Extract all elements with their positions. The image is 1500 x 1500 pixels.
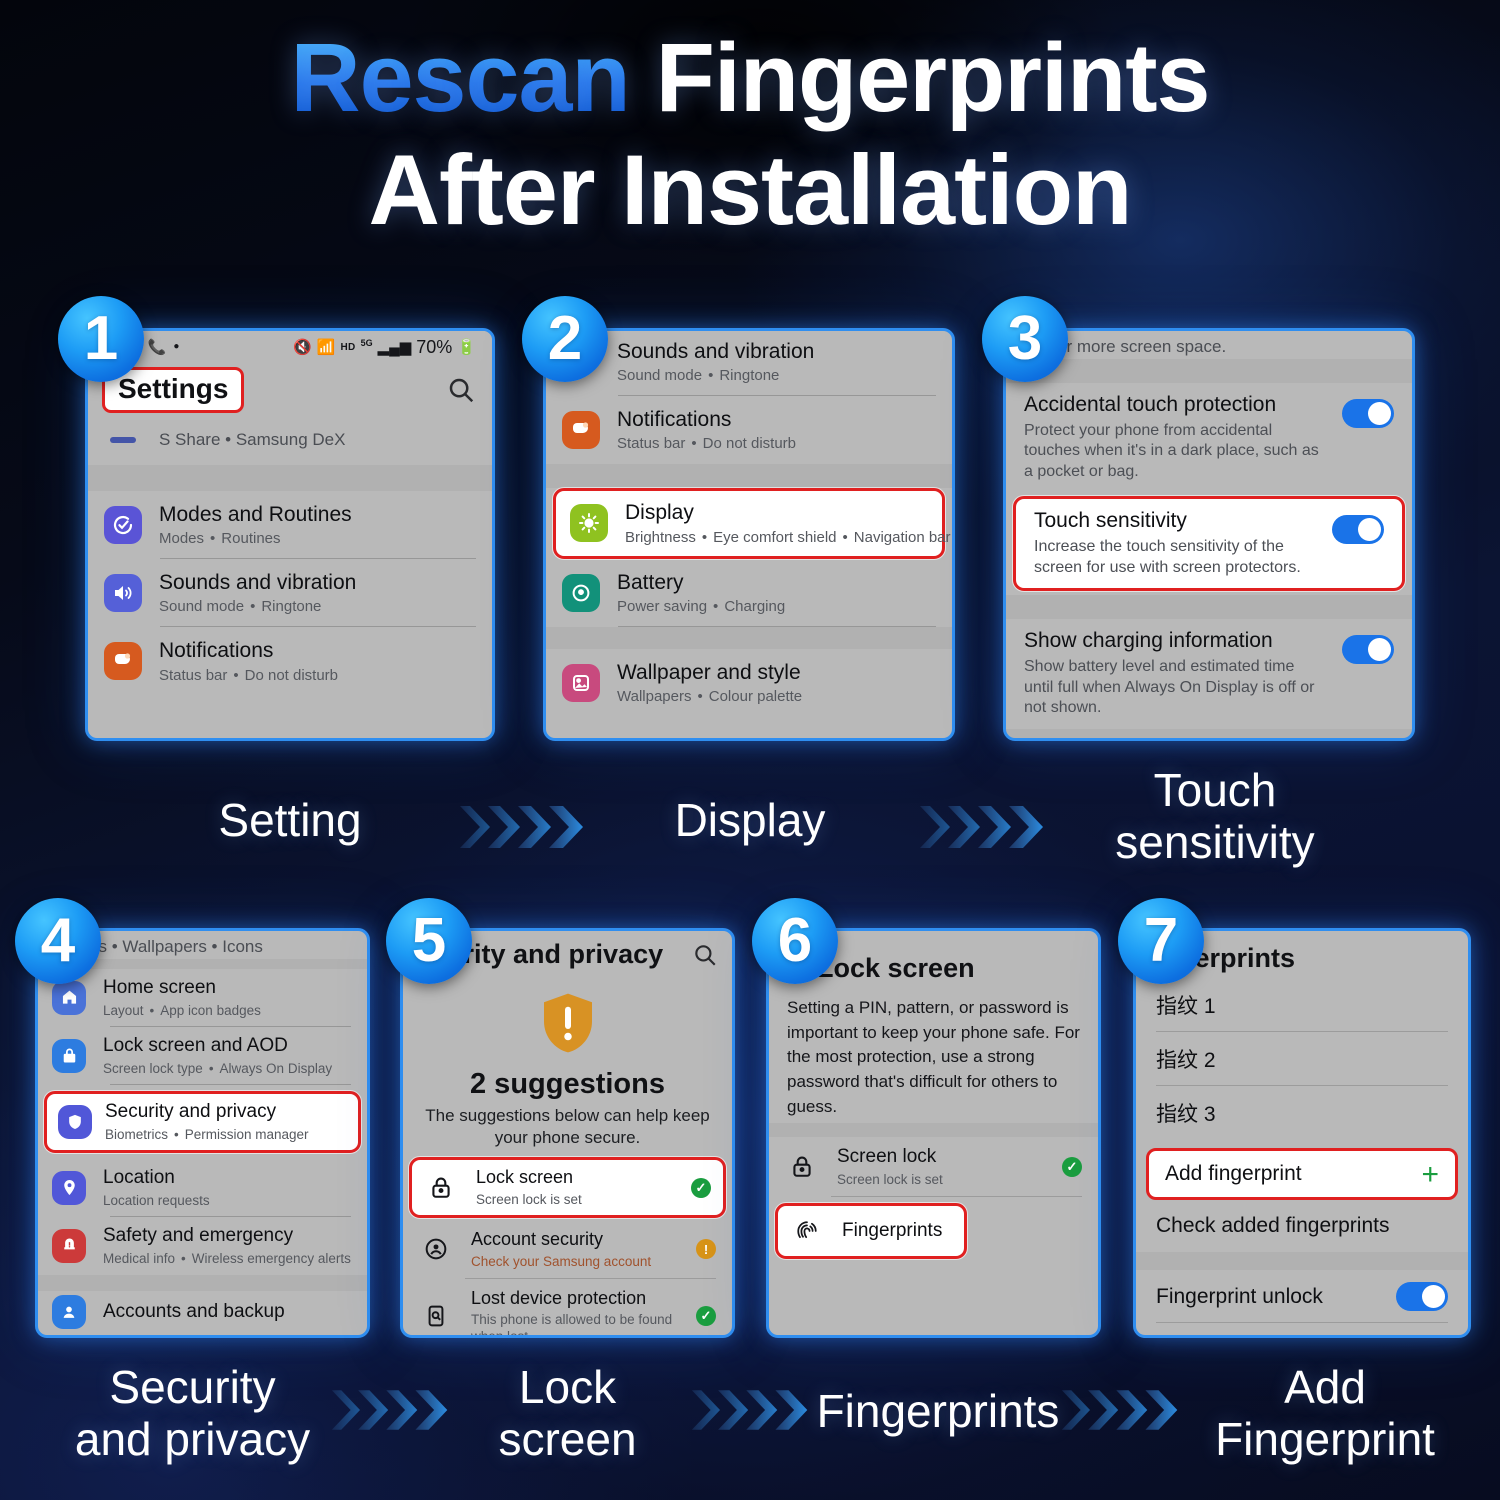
safety-icon <box>52 1229 86 1263</box>
flow-chevrons <box>330 1382 452 1438</box>
suggestion-account-security[interactable]: Account security Check your Samsung acco… <box>403 1220 732 1279</box>
row-title: Lost device protection <box>471 1288 678 1310</box>
row-subtitle: Wallpapers•Colour palette <box>617 688 802 706</box>
display-icon <box>570 504 608 542</box>
settings-row-home-screen[interactable]: Home screen Layout•App icon badges <box>38 969 367 1027</box>
flow-chevrons <box>458 798 588 856</box>
flow-label-setting: Setting <box>160 795 420 847</box>
lock-screen-description: Setting a PIN, pattern, or password is i… <box>769 988 1098 1123</box>
account-icon <box>419 1232 453 1266</box>
clipped-row: S Share • Samsung DeX <box>88 419 492 465</box>
wallpaper-icon <box>562 664 600 702</box>
row-subtitle: Medical info•Wireless emergency alerts <box>103 1251 351 1267</box>
hd-label: HD <box>341 342 356 353</box>
row-subtitle: Screen lock is set <box>476 1192 582 1208</box>
sound-icon <box>104 574 142 612</box>
row-subtitle: Modes•Routines <box>159 530 352 548</box>
modes-routines-icon <box>104 506 142 544</box>
mute-icon: 🔇 <box>293 340 312 355</box>
fingerprint-item[interactable]: 指纹 1 <box>1136 978 1468 1032</box>
add-fingerprint-label: Add fingerprint <box>1165 1162 1302 1186</box>
step-badge-7: 7 <box>1118 898 1204 984</box>
settings-row-lock-screen-aod[interactable]: Lock screen and AOD Screen lock type•Alw… <box>38 1027 367 1085</box>
battery-percent: 70% <box>416 337 452 358</box>
title-accent: Rescan <box>291 23 630 132</box>
settings-row-location[interactable]: Location Location requests <box>38 1159 367 1217</box>
lock-icon <box>52 1039 86 1073</box>
row-subtitle: Status bar•Do not disturb <box>159 667 338 685</box>
step-badge-4: 4 <box>15 898 101 984</box>
row-title: Account security <box>471 1229 651 1251</box>
step-badge-3: 3 <box>982 296 1068 382</box>
plus-icon: + <box>1421 1164 1439 1185</box>
toggle-label: Fingerprint unlock <box>1156 1285 1323 1309</box>
row-title: Location <box>103 1167 210 1190</box>
toggle-switch[interactable] <box>1332 515 1384 544</box>
notifications-icon <box>104 642 142 680</box>
flow-chevrons <box>690 1382 812 1438</box>
row-title: Modes and Routines <box>159 502 352 527</box>
page-title: Rescan Fingerprints After Installation <box>0 30 1500 238</box>
settings-header: Settings <box>88 363 492 419</box>
panel-step-4[interactable]: hemes • Wallpapers • Icons Home screen L… <box>35 928 370 1338</box>
signal-icon: ▂▄▆ <box>378 340 412 355</box>
row-title: Notifications <box>617 407 796 432</box>
flow-label-touch-sensitivity: Touch sensitivity <box>1070 765 1360 868</box>
settings-row-security-privacy-highlighted[interactable]: Security and privacy Biometrics•Permissi… <box>44 1091 361 1153</box>
row-title: Safety and emergency <box>103 1225 351 1248</box>
status-badge: ✓ <box>696 1306 716 1326</box>
panel-step-5[interactable]: ecurity and privacy 2 suggestions The su… <box>400 928 735 1338</box>
panel-step-1[interactable]: 🖼 ⊗ 📞 ● 🔇 📶 HD 5G ▂▄▆ 70% 🔋 Settings S <box>85 328 495 741</box>
suggestion-lost-device-protection[interactable]: Lost device protection This phone is all… <box>403 1279 732 1335</box>
add-fingerprint-button-highlighted[interactable]: Add fingerprint + <box>1146 1148 1458 1200</box>
step-badge-1: 1 <box>58 296 144 382</box>
search-icon[interactable] <box>692 942 718 968</box>
row-subtitle: Screen lock is set <box>837 1172 943 1188</box>
row-subtitle: This phone is allowed to be found when l… <box>471 1312 678 1335</box>
toggle-switch[interactable] <box>1396 1282 1448 1311</box>
setting-touch-sensitivity-highlighted[interactable]: Touch sensitivity Increase the touch sen… <box>1013 496 1405 591</box>
toggle-fingerprint-unlock[interactable]: Fingerprint unlock <box>1136 1270 1468 1323</box>
step-badge-5: 5 <box>386 898 472 984</box>
suggestions-summary: 2 suggestions The suggestions below can … <box>403 984 732 1149</box>
flow-chevrons <box>1060 1382 1182 1438</box>
settings-row-modes[interactable]: Modes and Routines Modes•Routines <box>88 491 492 559</box>
settings-row-accounts-backup[interactable]: Accounts and backup <box>38 1291 367 1333</box>
lock-outline-icon <box>785 1150 819 1184</box>
row-title: Lock screen and AOD <box>103 1035 332 1058</box>
row-subtitle: Location requests <box>103 1193 210 1209</box>
settings-row-notifications[interactable]: Notifications Status bar•Do not disturb <box>546 396 952 464</box>
setting-subtitle: Show battery level and estimated time un… <box>1024 657 1324 718</box>
flow-chevrons <box>918 798 1048 856</box>
settings-row-wallpaper[interactable]: Wallpaper and style Wallpapers•Colour pa… <box>546 649 952 717</box>
row-title: Accounts and backup <box>103 1301 285 1324</box>
clipped-row-text: S Share • Samsung DeX <box>159 430 345 450</box>
warning-shield-icon <box>532 984 604 1062</box>
home-icon <box>52 981 86 1015</box>
row-subtitle: Sound mode•Ringtone <box>617 367 814 385</box>
row-title: Notifications <box>159 638 338 663</box>
row-title: Lock screen <box>476 1167 582 1189</box>
network-label: 5G <box>361 338 373 348</box>
row-title: Fingerprints <box>842 1220 942 1243</box>
check-added-fingerprints[interactable]: Check added fingerprints <box>1136 1208 1468 1252</box>
toggle-fingerprint-always-on[interactable]: Fingerprint always on <box>1136 1323 1468 1335</box>
fingerprint-icon <box>790 1214 824 1248</box>
row-subtitle: Biometrics•Permission manager <box>105 1127 309 1143</box>
row-title: Display <box>625 500 928 525</box>
row-fingerprints-highlighted[interactable]: Fingerprints <box>775 1203 967 1259</box>
suggestion-description: The suggestions below can help keep your… <box>403 1105 732 1149</box>
row-title: Wallpaper and style <box>617 660 802 685</box>
flow-label-security-and-privacy: Security and privacy <box>55 1362 330 1465</box>
page-title: Lock screen <box>817 953 975 984</box>
battery-icon: 🔋 <box>457 340 476 355</box>
settings-row-battery[interactable]: Battery Power saving•Charging <box>546 559 952 627</box>
status-badge: ! <box>696 1239 716 1259</box>
status-badge: ✓ <box>1062 1157 1082 1177</box>
flow-label-add-fingerprint: Add Fingerprint <box>1180 1362 1470 1465</box>
call-location-icon: 📞 <box>148 340 167 355</box>
wifi-icon: 📶 <box>317 340 336 355</box>
row-screen-lock[interactable]: Screen lock Screen lock is set ✓ <box>769 1137 1098 1197</box>
settings-row-display-highlighted[interactable]: Display Brightness•Eye comfort shield•Na… <box>553 488 945 558</box>
accounts-icon <box>52 1295 86 1329</box>
dot-icon: ● <box>173 342 179 352</box>
settings-row-safety-emergency[interactable]: Safety and emergency Medical info•Wirele… <box>38 1217 367 1275</box>
row-subtitle: Status bar•Do not disturb <box>617 435 796 453</box>
row-subtitle: Power saving•Charging <box>617 598 785 616</box>
setting-subtitle: Protect your phone from accidental touch… <box>1024 421 1324 482</box>
setting-title: Show charging information <box>1024 629 1324 653</box>
toggle-switch[interactable] <box>1342 399 1394 428</box>
lock-outline-icon <box>424 1171 458 1205</box>
flow-label-display: Display <box>620 795 880 847</box>
row-title: Screen lock <box>837 1146 943 1169</box>
toggle-switch[interactable] <box>1342 635 1394 664</box>
status-badge: ✓ <box>691 1178 711 1198</box>
row-title: Sounds and vibration <box>617 339 814 364</box>
shield-icon <box>58 1105 92 1139</box>
fingerprint-item[interactable]: 指纹 2 <box>1136 1032 1468 1086</box>
setting-show-charging-information[interactable]: Show charging information Show battery l… <box>1006 619 1412 728</box>
row-subtitle: Sound mode•Ringtone <box>159 598 356 616</box>
setting-title: Accidental touch protection <box>1024 393 1324 417</box>
location-icon <box>52 1171 86 1205</box>
row-subtitle: Layout•App icon badges <box>103 1003 261 1019</box>
panel-step-7[interactable]: ingerprints 指纹 1 指纹 2 指纹 3 Add fingerpri… <box>1133 928 1471 1338</box>
fingerprint-item[interactable]: 指纹 3 <box>1136 1086 1468 1140</box>
setting-subtitle: Increase the touch sensitivity of the sc… <box>1034 537 1314 578</box>
row-subtitle: Check your Samsung account <box>471 1254 651 1270</box>
search-icon[interactable] <box>446 375 476 405</box>
setting-title: Touch sensitivity <box>1034 509 1314 533</box>
suggestion-lock-screen-highlighted[interactable]: Lock screen Screen lock is set ✓ <box>409 1157 726 1218</box>
flow-label-fingerprints: Fingerprints <box>808 1386 1068 1438</box>
row-title: Battery <box>617 570 785 595</box>
notifications-icon <box>562 411 600 449</box>
suggestion-count: 2 suggestions <box>470 1068 665 1101</box>
row-title: Security and privacy <box>105 1101 309 1124</box>
title-line-1: Rescan Fingerprints <box>0 30 1500 125</box>
panel-step-3[interactable]: res for more screen space. Accidental to… <box>1003 328 1415 741</box>
find-device-icon <box>419 1299 453 1333</box>
row-title: Home screen <box>103 977 261 1000</box>
settings-row-notifications[interactable]: Notifications Status bar•Do not disturb <box>88 627 492 695</box>
flow-label-lock-screen: Lock screen <box>460 1362 675 1465</box>
row-title: Sounds and vibration <box>159 570 356 595</box>
step-badge-6: 6 <box>752 898 838 984</box>
setting-accidental-touch-protection[interactable]: Accidental touch protection Protect your… <box>1006 383 1412 492</box>
panel-step-6[interactable]: Lock screen Setting a PIN, pattern, or p… <box>766 928 1101 1338</box>
settings-row-sounds[interactable]: Sounds and vibration Sound mode•Ringtone <box>88 559 492 627</box>
title-rest: Fingerprints <box>630 23 1210 132</box>
status-bar: 🖼 ⊗ 📞 ● 🔇 📶 HD 5G ▂▄▆ 70% 🔋 <box>88 331 492 363</box>
battery-icon <box>562 574 600 612</box>
step-badge-2: 2 <box>522 296 608 382</box>
row-subtitle: Screen lock type•Always On Display <box>103 1061 332 1077</box>
panel-step-2[interactable]: Sounds and vibration Sound mode•Ringtone… <box>543 328 955 741</box>
row-subtitle: Brightness•Eye comfort shield•Navigation… <box>625 529 928 547</box>
title-line-2: After Installation <box>0 141 1500 238</box>
